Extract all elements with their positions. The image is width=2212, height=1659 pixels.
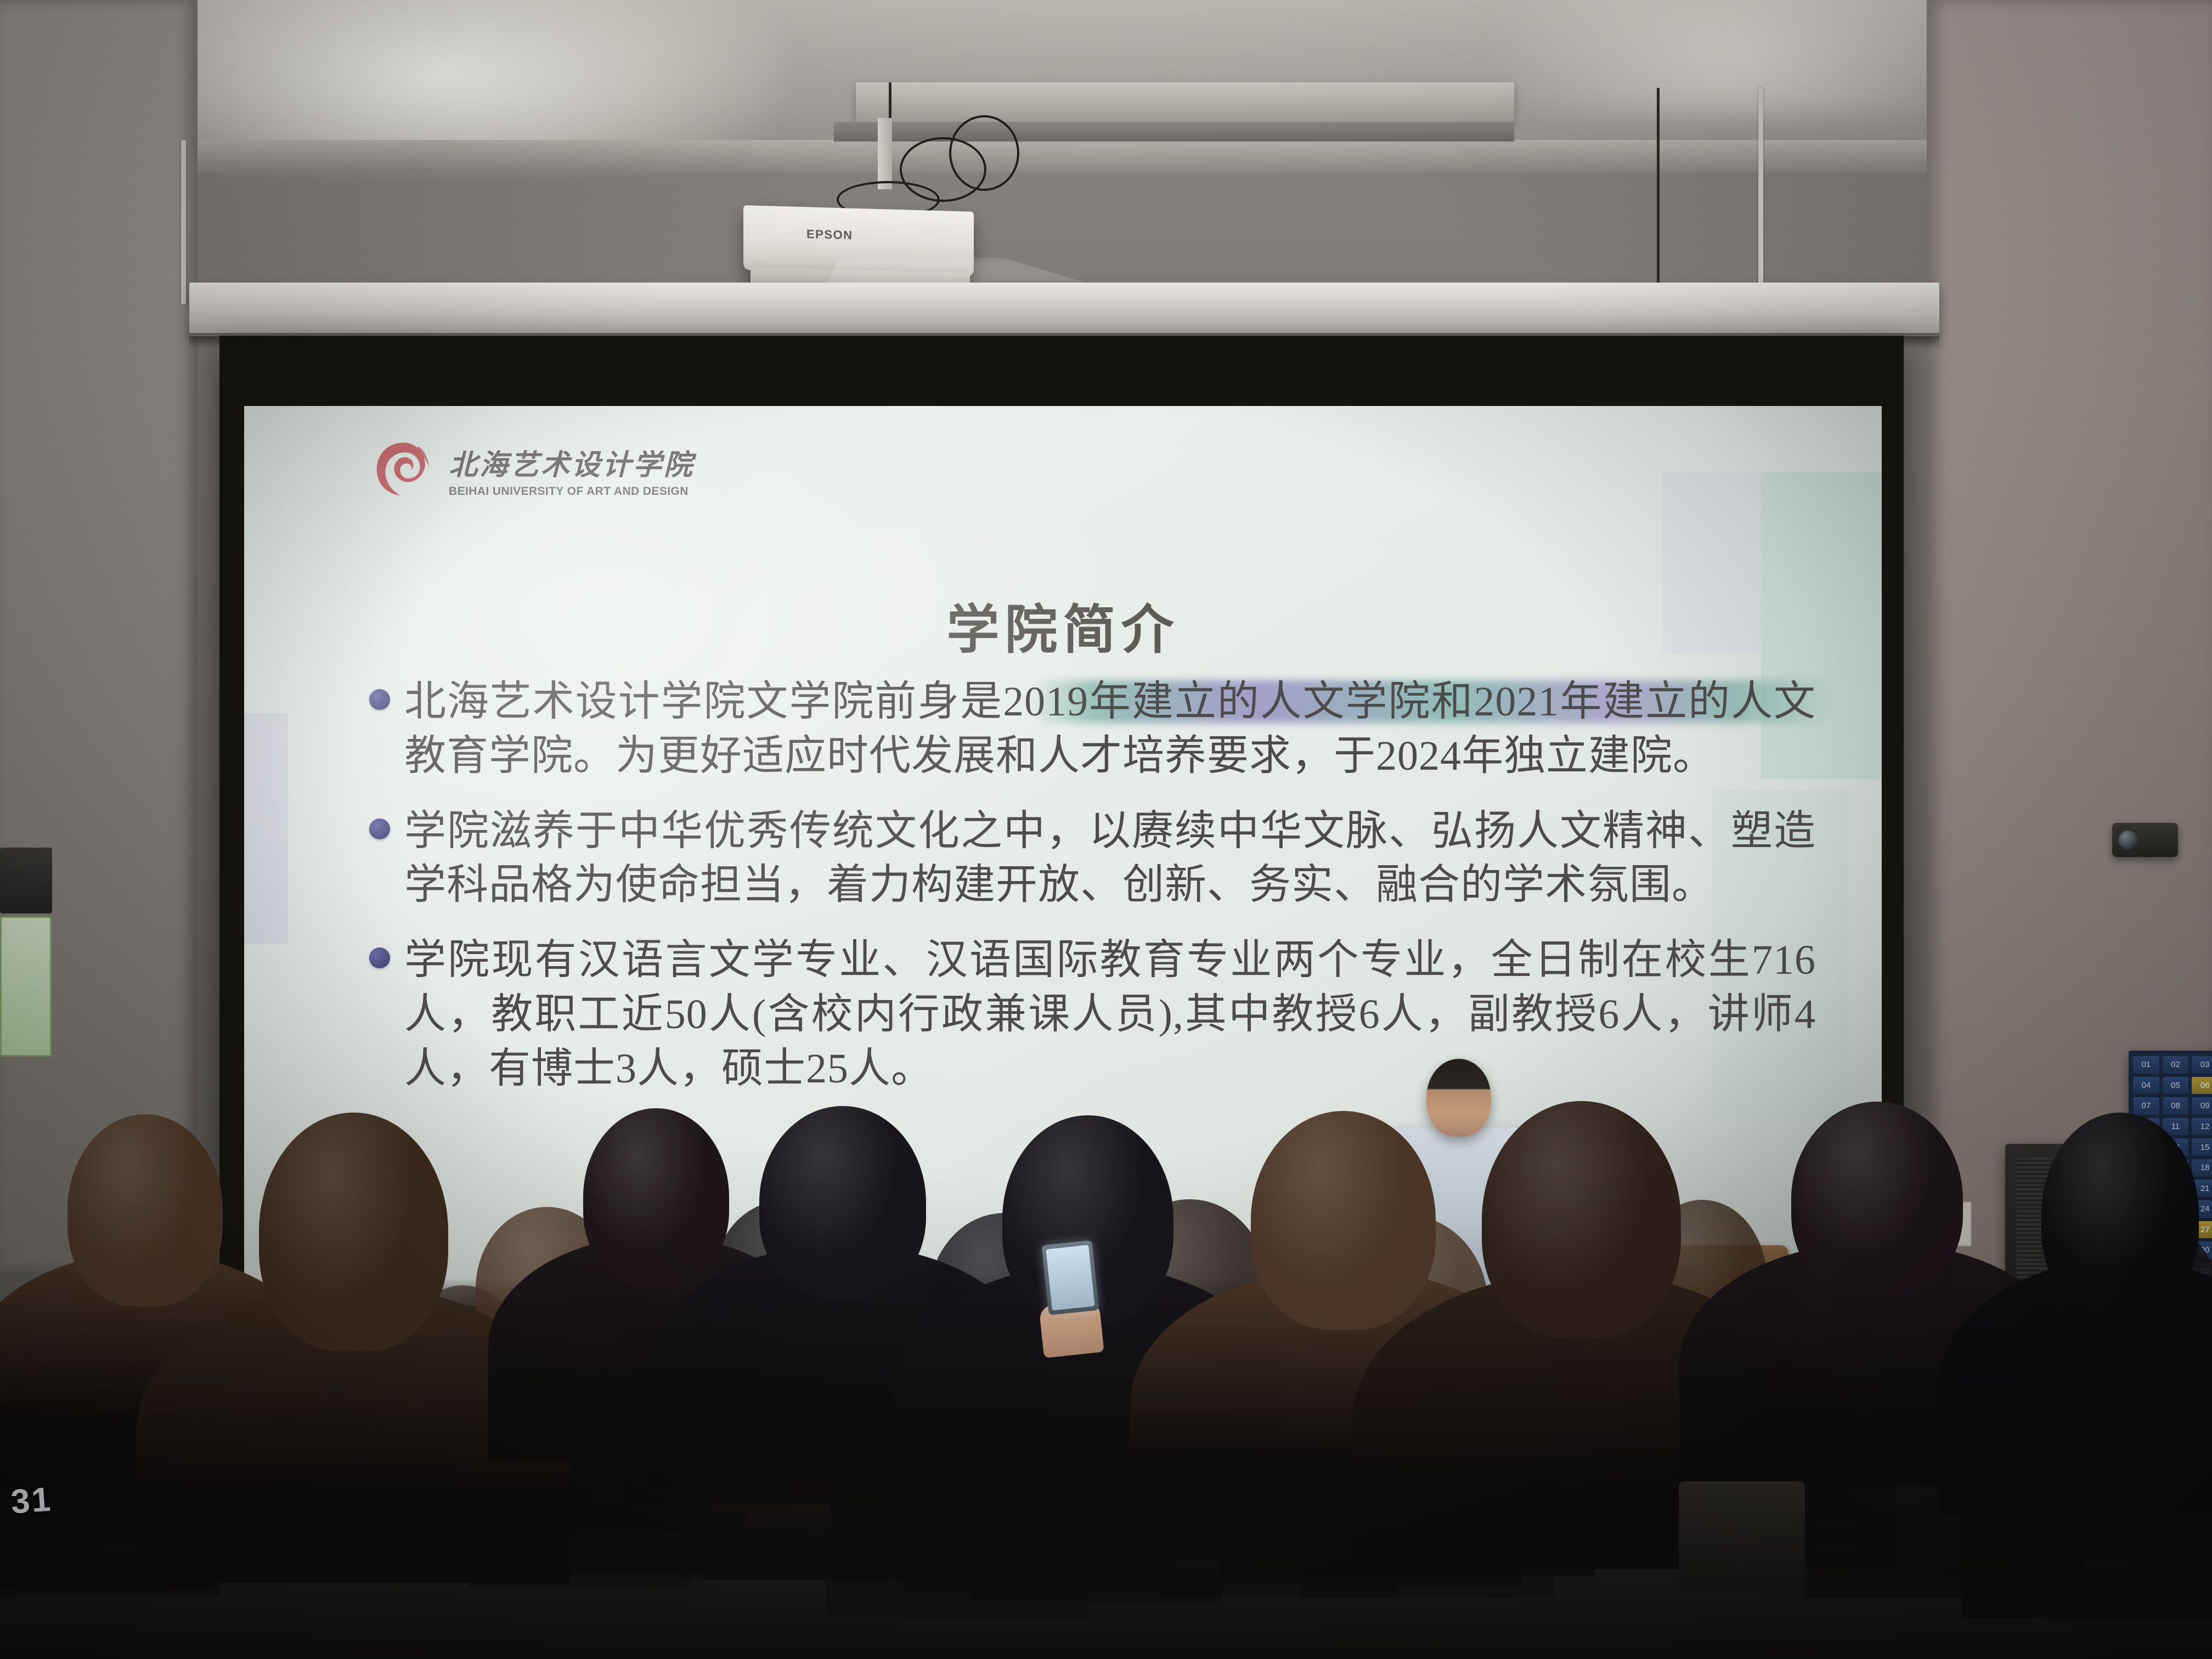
- key-slot[interactable]: 42: [2192, 1324, 2212, 1341]
- bullet-dot-icon: [369, 819, 390, 839]
- key-slot[interactable]: 24: [2192, 1200, 2212, 1218]
- loudspeaker-grill: [2016, 1158, 2112, 1333]
- key-slot[interactable]: 38: [2163, 1304, 2189, 1321]
- ceiling-beam: [856, 82, 1514, 122]
- key-slot[interactable]: 16: [2133, 1159, 2159, 1177]
- logo-english-name: BEIHAI UNIVERSITY OF ART AND DESIGN: [449, 485, 695, 498]
- key-slot[interactable]: 06: [2192, 1077, 2212, 1094]
- bullet-dot-icon: [369, 689, 390, 710]
- key-slot[interactable]: 41: [2163, 1324, 2189, 1341]
- slide-title: 学院简介: [244, 587, 1882, 663]
- podium-slot: [1448, 1355, 1585, 1369]
- key-slot[interactable]: 01: [2133, 1056, 2159, 1074]
- key-slot[interactable]: 10: [2133, 1118, 2159, 1136]
- key-slot[interactable]: 30: [2192, 1242, 2212, 1259]
- key-slot[interactable]: 18: [2192, 1159, 2212, 1177]
- lecture-hall-photo: EPSON 北海艺术设计学院 BEIHAI UNIVERSITY OF A: [0, 0, 2212, 1659]
- key-slot[interactable]: 09: [2192, 1097, 2212, 1115]
- key-slot[interactable]: 34: [2133, 1283, 2159, 1300]
- bullet-text: 学院现有汉语言文学专业、汉语国际教育专业两个专业，全日制在校生716人，教职工近…: [404, 933, 1816, 1096]
- wall-device-left: [0, 848, 52, 913]
- bullet-text: 学院滋养于中华优秀传统文化之中，以赓续中华文脉、弘扬人文精神、塑造学科品格为使命…: [404, 804, 1816, 913]
- numbered-key-cabinet[interactable]: 0102030405060708091011121314151617181920…: [2129, 1051, 2212, 1347]
- key-slot[interactable]: 07: [2133, 1097, 2159, 1115]
- key-slot[interactable]: 33: [2192, 1262, 2212, 1280]
- key-slot[interactable]: 14: [2163, 1138, 2189, 1156]
- backpack: [1679, 1481, 1805, 1591]
- key-slot[interactable]: 36: [2192, 1283, 2212, 1300]
- smartphone-recording: [1042, 1240, 1099, 1316]
- presenter-head: [1426, 1059, 1491, 1137]
- projector: [743, 205, 974, 276]
- projector-mount: [878, 118, 892, 189]
- key-slot[interactable]: 29: [2163, 1242, 2189, 1259]
- key-slot[interactable]: 03: [2192, 1056, 2212, 1074]
- key-slot[interactable]: 40: [2133, 1324, 2159, 1341]
- list-item: 北海艺术设计学院文学院前身是2019年建立的人文学院和2021年建立的人文教育学…: [354, 675, 1816, 783]
- list-item: 学院滋养于中华优秀传统文化之中，以赓续中华文脉、弘扬人文精神、塑造学科品格为使命…: [354, 804, 1816, 913]
- key-slot[interactable]: 26: [2163, 1221, 2189, 1239]
- key-slot[interactable]: 20: [2163, 1180, 2189, 1197]
- key-slot[interactable]: 13: [2133, 1138, 2159, 1156]
- left-wall-panel: [0, 0, 198, 1273]
- slide-bullet-list: 北海艺术设计学院文学院前身是2019年建立的人文学院和2021年建立的人文教育学…: [354, 675, 1816, 1117]
- key-slot[interactable]: 31: [2133, 1262, 2159, 1280]
- key-slot[interactable]: 05: [2163, 1077, 2189, 1094]
- wall-outlet-plate: [1909, 1201, 1972, 1246]
- projection-screen-valance: [189, 283, 1939, 336]
- key-slot[interactable]: 21: [2192, 1180, 2212, 1197]
- key-slot[interactable]: 17: [2163, 1159, 2189, 1177]
- key-slot[interactable]: 37: [2133, 1304, 2159, 1321]
- key-slot[interactable]: 12: [2192, 1118, 2212, 1136]
- key-slot[interactable]: 08: [2163, 1097, 2189, 1115]
- key-slot[interactable]: 23: [2163, 1200, 2189, 1218]
- ceiling-hanger-rod-left: [181, 140, 186, 304]
- key-slot[interactable]: 35: [2163, 1283, 2189, 1300]
- logo-text-block: 北海艺术设计学院 BEIHAI UNIVERSITY OF ART AND DE…: [449, 442, 695, 498]
- seat-number-label: 31: [10, 1480, 54, 1521]
- projector-brand-label: EPSON: [806, 227, 853, 242]
- bullet-text: 北海艺术设计学院文学院前身是2019年建立的人文学院和2021年建立的人文教育学…: [404, 675, 1816, 783]
- key-slot[interactable]: 39: [2192, 1304, 2212, 1321]
- podium-object: [1564, 1158, 1651, 1276]
- key-slot[interactable]: 27: [2192, 1221, 2212, 1239]
- wall-notice-board: [0, 916, 52, 1057]
- podium-equipment-panel: [1421, 1311, 1622, 1446]
- key-slot[interactable]: 02: [2163, 1056, 2189, 1074]
- list-item: 学院现有汉语言文学专业、汉语国际教育专业两个专业，全日制在校生716人，教职工近…: [354, 933, 1816, 1096]
- key-slot[interactable]: 15: [2192, 1138, 2212, 1156]
- key-slot[interactable]: 11: [2163, 1118, 2189, 1136]
- key-slot[interactable]: 22: [2133, 1200, 2159, 1218]
- bullet-dot-icon: [369, 947, 390, 968]
- presenter-body: [1372, 1127, 1553, 1292]
- spiral-logo-icon: [373, 439, 435, 500]
- key-slot[interactable]: 28: [2133, 1242, 2159, 1259]
- university-logo: 北海艺术设计学院 BEIHAI UNIVERSITY OF ART AND DE…: [373, 439, 695, 500]
- wall-camera-icon: [2112, 823, 2178, 857]
- key-slot[interactable]: 19: [2133, 1180, 2159, 1197]
- ceiling-soffit: [0, 140, 2212, 173]
- projector-cable-loop-2: [949, 115, 1019, 191]
- ceiling-light-glow-secondary: [1488, 0, 1982, 115]
- logo-chinese-name: 北海艺术设计学院: [449, 442, 695, 483]
- key-slot[interactable]: 04: [2133, 1077, 2159, 1094]
- key-slot[interactable]: 32: [2163, 1262, 2189, 1280]
- key-slot[interactable]: 25: [2133, 1221, 2159, 1239]
